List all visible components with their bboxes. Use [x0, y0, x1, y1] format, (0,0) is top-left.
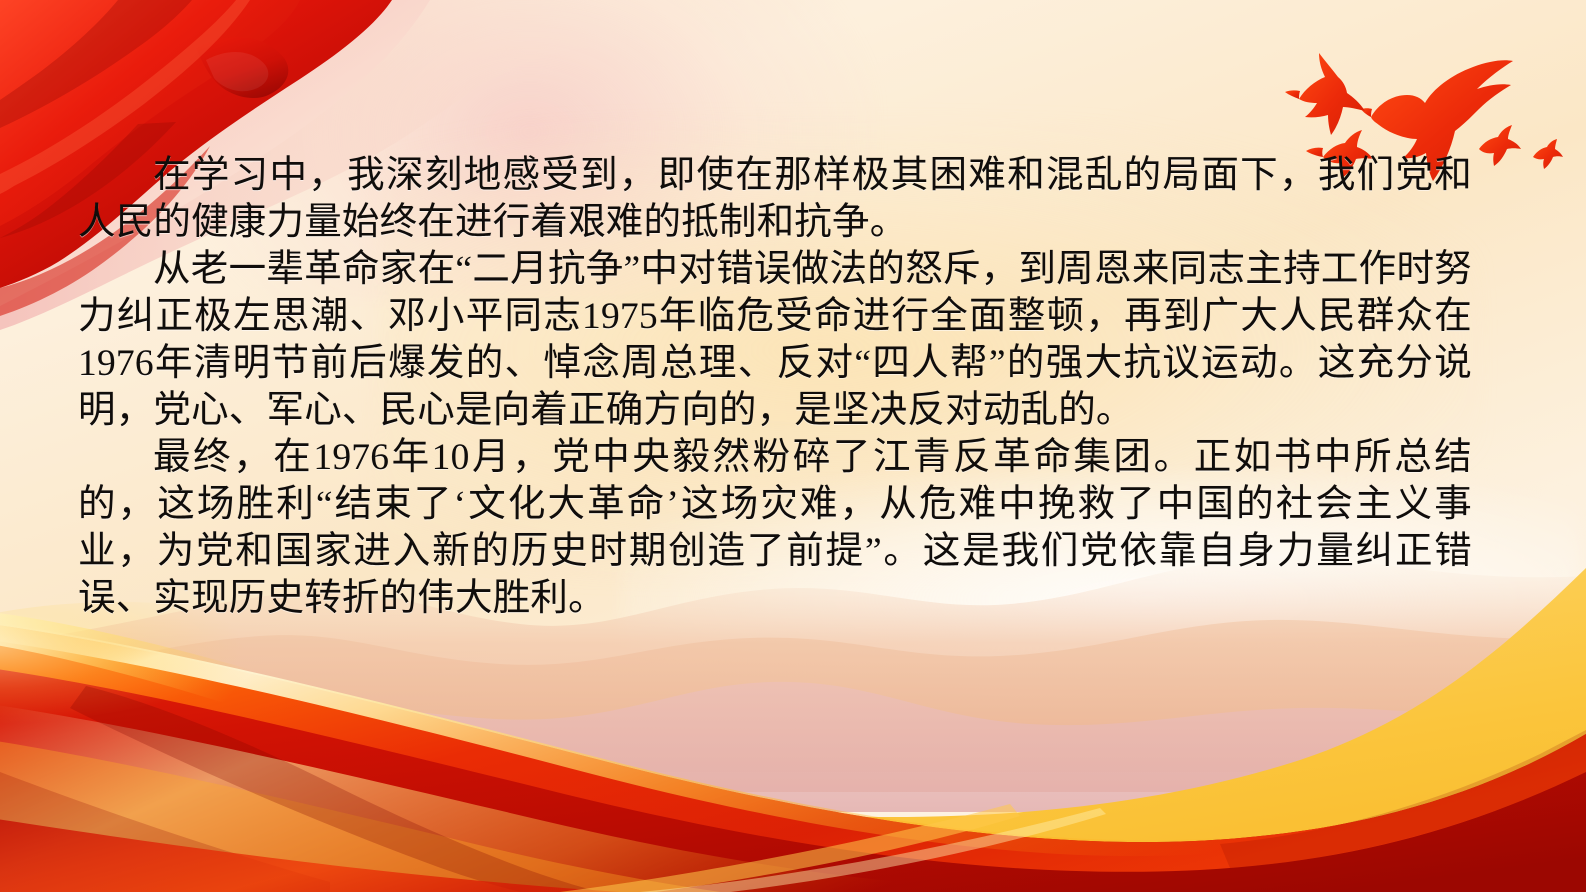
paragraph-1: 在学习中，我深刻地感受到，即使在那样极其困难和混乱的局面下，我们党和人民的健康力… [78, 152, 1472, 246]
dove-icon-right-small [1479, 125, 1521, 166]
slide-body-text: 在学习中，我深刻地感受到，即使在那样极其困难和混乱的局面下，我们党和人民的健康力… [78, 152, 1472, 622]
dove-icon-upper-left [1285, 53, 1365, 135]
presentation-slide: 在学习中，我深刻地感受到，即使在那样极其困难和混乱的局面下，我们党和人民的健康力… [0, 0, 1586, 892]
paragraph-2: 从老一辈革命家在“二月抗争”中对错误做法的怒斥，到周恩来同志主持工作时努力纠正极… [78, 246, 1472, 434]
paragraph-3: 最终，在1976年10月，党中央毅然粉碎了江青反革命集团。正如书中所总结的，这场… [78, 434, 1472, 622]
dove-icon-far-right [1533, 139, 1563, 169]
